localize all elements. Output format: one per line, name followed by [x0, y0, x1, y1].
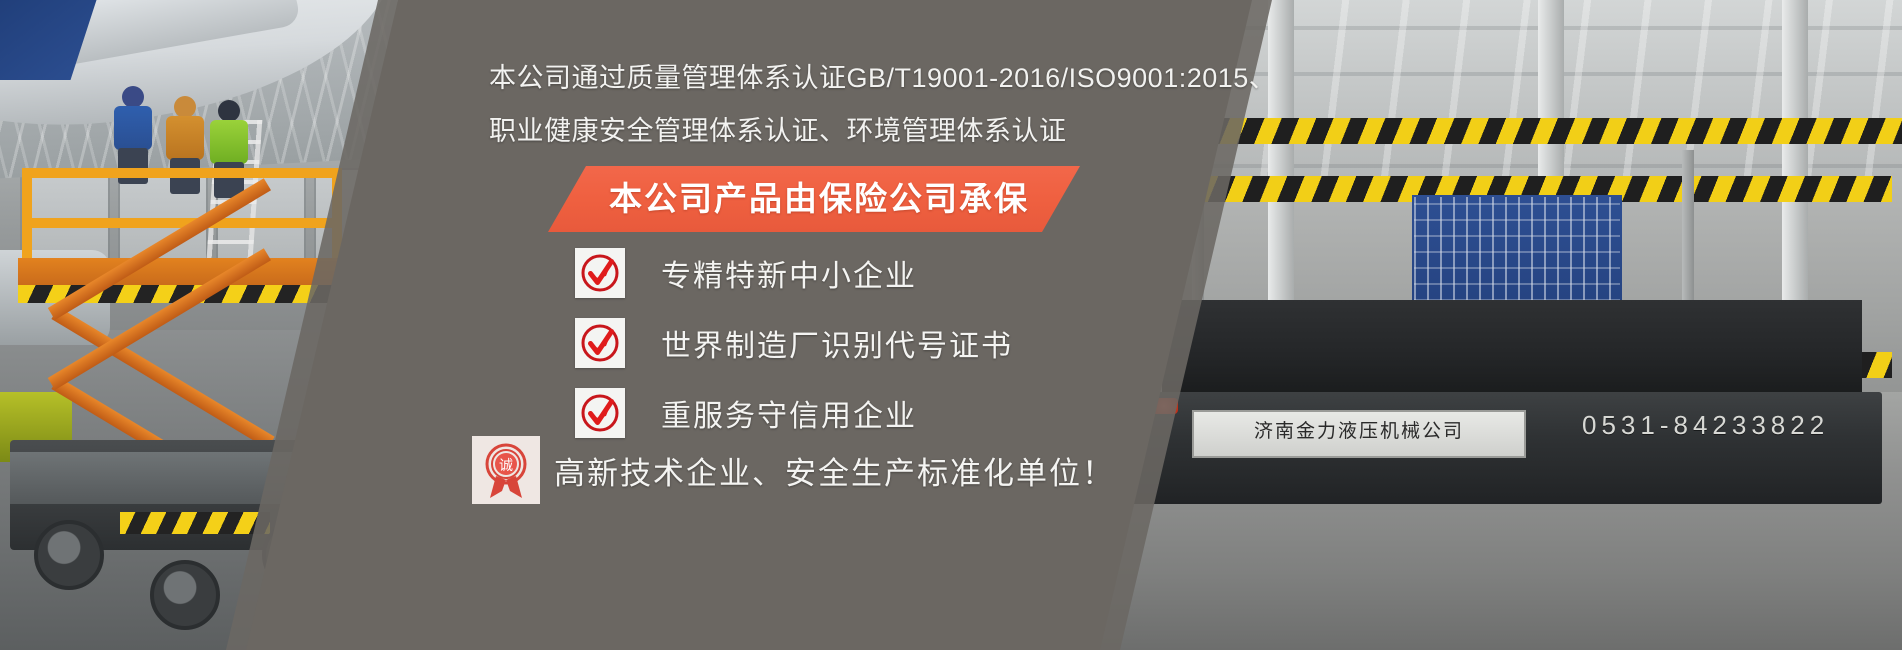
list-item-label: 世界制造厂识别代号证书 [661, 321, 1013, 365]
award-ribbon-icon: 诚 [472, 436, 540, 504]
banner-content: 本公司通过质量管理体系认证GB/T19001-2016/ISO9001:2015… [0, 0, 1902, 650]
headline-line-2: 职业健康安全管理体系认证、环境管理体系认证 [489, 105, 1269, 158]
footer-highlight-label: 高新技术企业、安全生产标准化单位！ [554, 448, 1115, 493]
check-circle-icon [575, 248, 625, 298]
insurance-ribbon: 本公司产品由保险公司承保 [548, 166, 1080, 232]
check-circle-icon [575, 318, 625, 368]
check-circle-icon [575, 388, 625, 438]
promo-banner: 济南金力液压机械公司 0531-84233822 本公司通过质量管理体系认证GB… [0, 0, 1902, 650]
list-item-label: 专精特新中小企业 [661, 251, 917, 295]
list-item: 专精特新中小企业 [575, 240, 1013, 306]
certification-list: 专精特新中小企业 世界制造厂识别代号证书 [575, 240, 1013, 450]
footer-highlight-row: 诚 高新技术企业、安全生产标准化单位！ [472, 436, 1115, 504]
insurance-ribbon-label: 本公司产品由保险公司承保 [548, 166, 1080, 232]
list-item-label: 重服务守信用企业 [661, 391, 917, 435]
headline-block: 本公司通过质量管理体系认证GB/T19001-2016/ISO9001:2015… [489, 52, 1269, 158]
headline-line-1: 本公司通过质量管理体系认证GB/T19001-2016/ISO9001:2015… [489, 63, 1276, 93]
list-item: 世界制造厂识别代号证书 [575, 310, 1013, 376]
svg-text:诚: 诚 [499, 458, 513, 474]
